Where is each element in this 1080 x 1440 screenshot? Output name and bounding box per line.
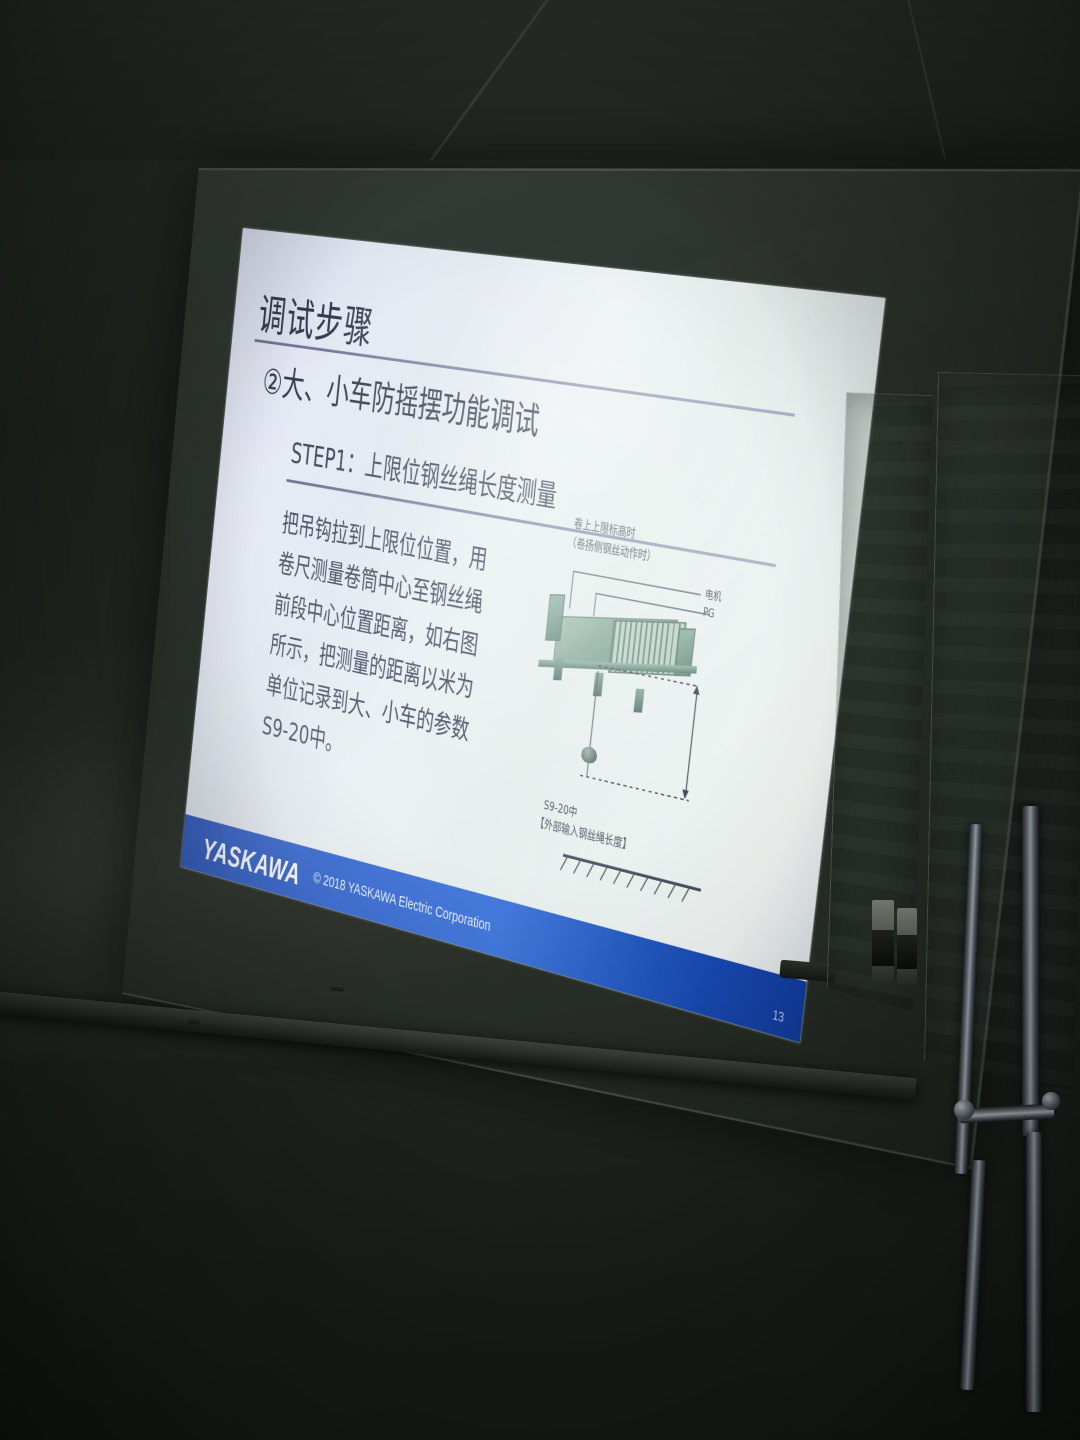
projector-room-photo: 调试步骤 ②大、小车防摇摆功能调试 STEP1：上限位钢丝绳长度测量 把吊钩拉到… <box>0 0 1080 1440</box>
ground-hatch <box>573 859 582 874</box>
diagram-label-pg: PG <box>702 605 715 621</box>
glass-blind-stripes <box>925 373 1080 1091</box>
ground-hatch <box>600 866 609 881</box>
ground-hatch <box>681 887 690 903</box>
diagram-label-motor: 电机 <box>704 586 722 606</box>
dimension-ref-bottom <box>580 775 689 802</box>
ground-hatch <box>586 862 595 877</box>
ground-hatch <box>668 883 677 898</box>
slide-page-number: 13 <box>772 1007 785 1025</box>
drum-support-leg <box>633 689 644 713</box>
diagram-label-note: 【外部输入钢丝绳长度】 <box>535 816 632 856</box>
diagram-lead-line <box>569 571 574 609</box>
bottle-label <box>872 930 894 966</box>
metal-pole-lower-right <box>1026 1132 1042 1412</box>
ground-hatch <box>560 856 568 871</box>
pole-clamp-knob-left <box>954 1100 974 1120</box>
ground-hatch <box>654 880 663 895</box>
drum-support-leg <box>553 657 564 681</box>
dimension-line <box>685 690 698 798</box>
dimension-arrow-down <box>681 789 688 799</box>
diagram-lead-line <box>593 593 597 617</box>
slide-title: 调试步骤 <box>256 280 376 357</box>
ground-bar <box>563 854 701 891</box>
slide-body-text: 把吊钩拉到上限位位置，用卷尺测量卷筒中心至钢丝绳前段中心位置距离，如右图所示，把… <box>260 503 503 799</box>
dimension-arrow-up <box>693 685 700 695</box>
hoist-diagram: 卷上上限标高时 （卷扬侧钢丝动作时） 电机 PG <box>512 512 804 878</box>
ground-hatch <box>627 873 636 888</box>
ground-symbol <box>560 854 701 916</box>
marker-pen <box>188 1017 200 1024</box>
bottle-label <box>897 935 917 968</box>
glass-partition-right <box>924 372 1080 1091</box>
whiteboard-edge <box>198 168 1080 171</box>
ground-hatch <box>640 876 649 891</box>
diagram-lead-line <box>596 593 710 616</box>
ground-hatch <box>613 869 622 884</box>
shelf-bottle <box>897 908 917 984</box>
pole-clamp-knob-right <box>1042 1092 1060 1110</box>
diagram-lead-line <box>573 571 701 596</box>
marker-pen <box>330 984 344 991</box>
crane-hook <box>581 745 598 765</box>
metal-pole-vertical-right <box>1022 806 1039 1136</box>
shelf-bottle <box>872 900 894 982</box>
